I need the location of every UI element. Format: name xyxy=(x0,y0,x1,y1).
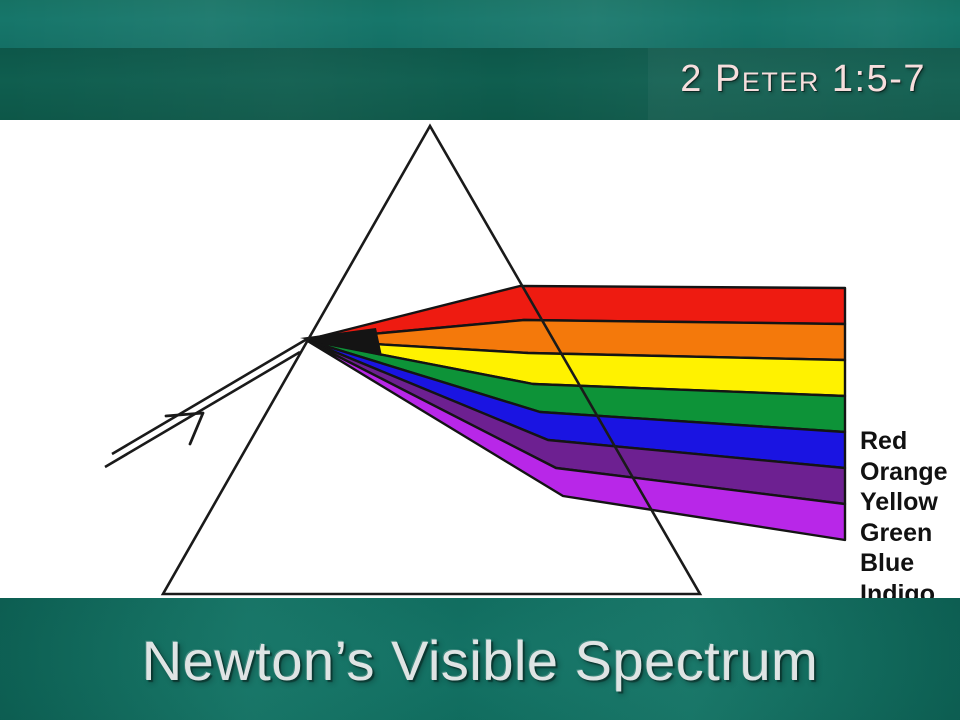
chalkboard-top-strip xyxy=(0,0,960,48)
spectrum-color-legend: Red Orange Yellow Green Blue Indigo Viol… xyxy=(860,426,960,598)
white-light-ray-upper xyxy=(112,339,307,454)
diagram-panel: White Light Glass Prism Red Orange Yello… xyxy=(0,120,960,598)
white-light-beam xyxy=(105,339,307,467)
legend-item-green: Green xyxy=(860,518,960,549)
legend-item-orange: Orange xyxy=(860,457,960,488)
legend-item-blue: Blue xyxy=(860,548,960,579)
slide: 2 Peter 1:5-7 xyxy=(0,0,960,720)
legend-item-red: Red xyxy=(860,426,960,457)
scripture-reference: 2 Peter 1:5-7 xyxy=(680,58,926,101)
slide-caption: Newton’s Visible Spectrum xyxy=(0,628,960,693)
spectrum-bands xyxy=(306,286,845,540)
legend-item-yellow: Yellow xyxy=(860,487,960,518)
legend-item-indigo: Indigo xyxy=(860,579,960,599)
white-light-ray-lower xyxy=(105,352,300,467)
prism-dispersion-svg xyxy=(0,120,960,598)
